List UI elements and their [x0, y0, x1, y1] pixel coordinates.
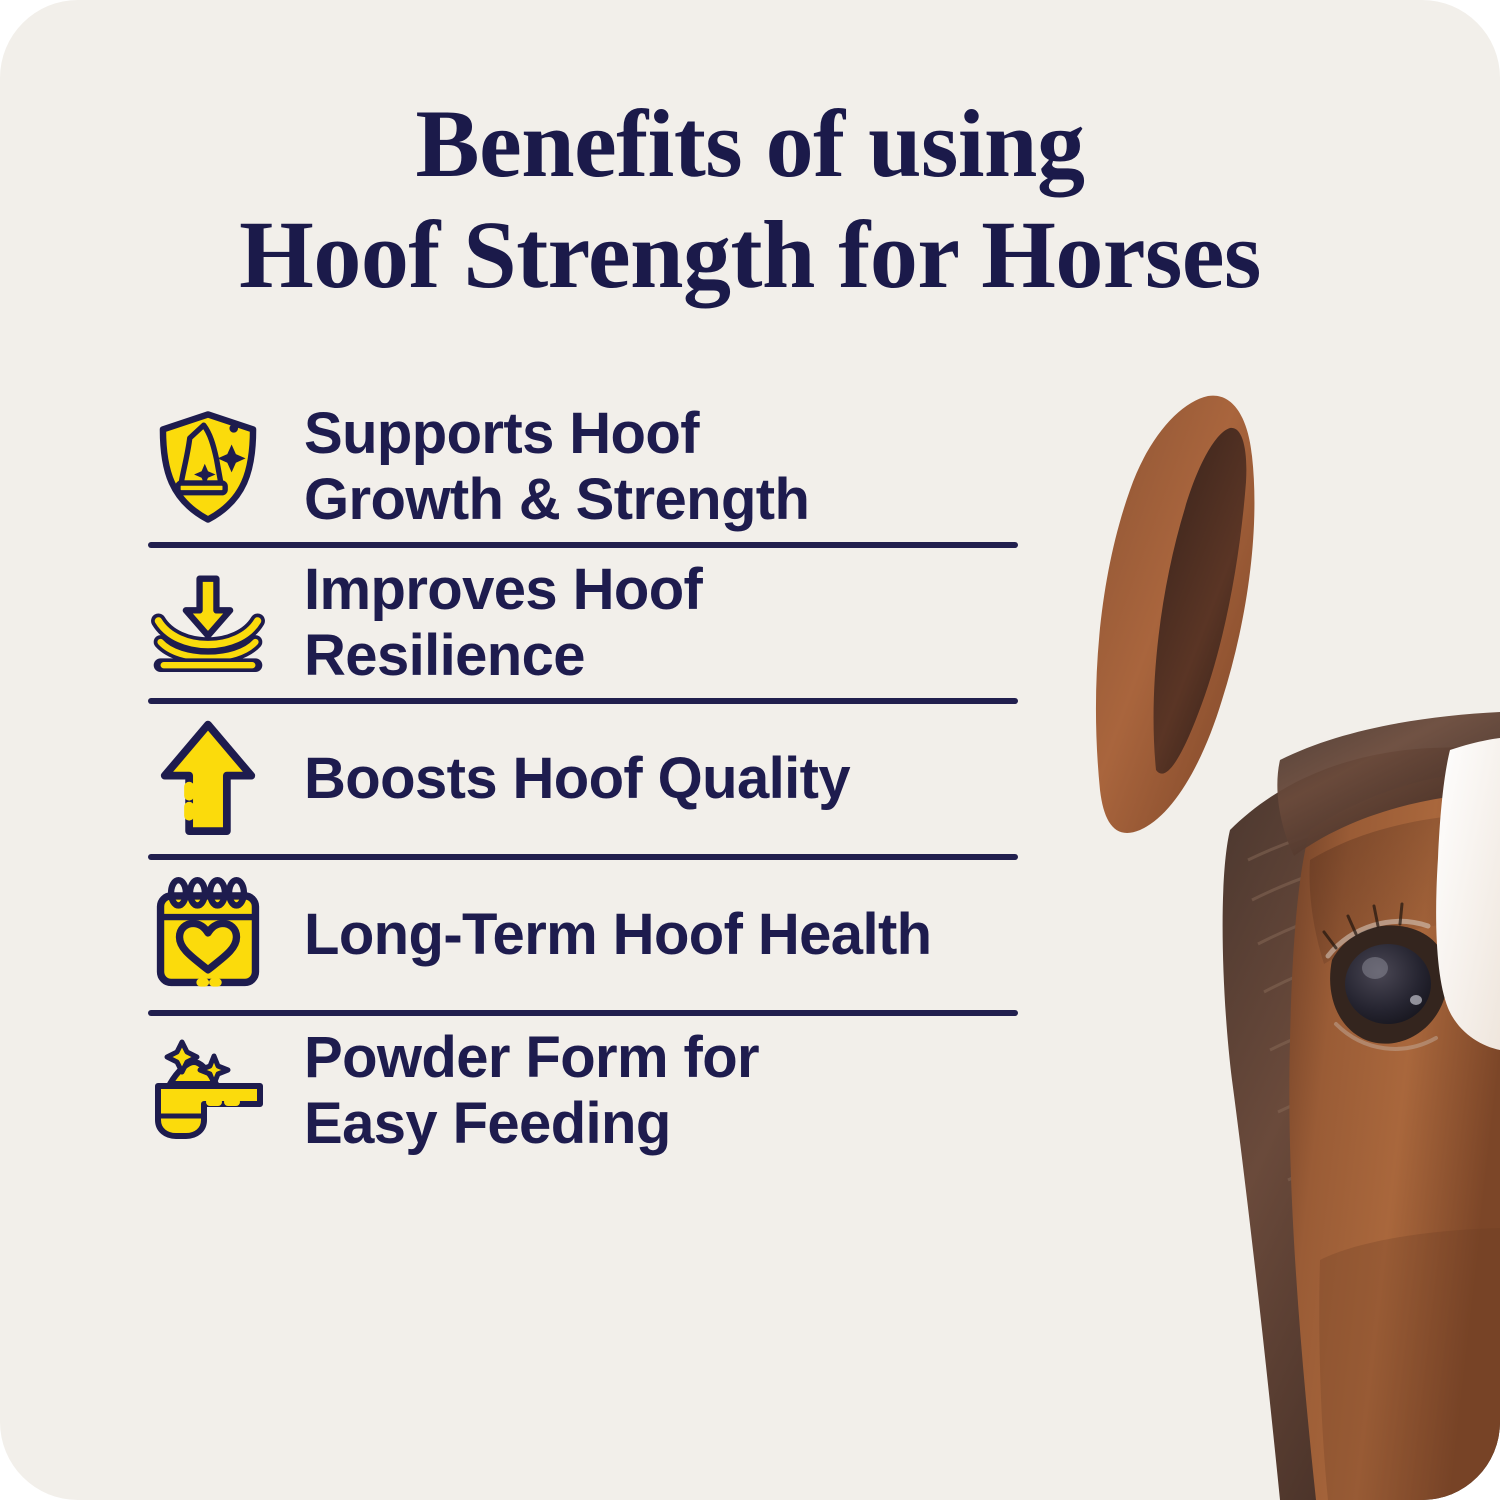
- benefit-label-line1: Supports Hoof: [304, 401, 699, 466]
- benefit-label-line1: Long-Term Hoof Health: [304, 902, 932, 967]
- benefit-label: Improves Hoof Resilience: [304, 557, 702, 688]
- benefit-item: Improves Hoof Resilience: [148, 548, 1048, 698]
- benefit-label: Long-Term Hoof Health: [304, 902, 932, 968]
- benefit-label-line1: Boosts Hoof Quality: [304, 746, 850, 811]
- horse-photo: [980, 360, 1500, 1500]
- arrow-up-icon: [148, 719, 268, 839]
- benefit-label-line1: Improves Hoof: [304, 557, 702, 622]
- title-line-1: Benefits of using: [0, 88, 1500, 199]
- infographic-card: Benefits of using Hoof Strength for Hors…: [0, 0, 1500, 1500]
- powder-scoop-sparkle-icon: [148, 1031, 268, 1151]
- benefit-label-line2: Easy Feeding: [304, 1091, 759, 1157]
- calendar-heart-icon: [148, 875, 268, 995]
- shield-hoof-sparkle-icon: [148, 407, 268, 527]
- page-title: Benefits of using Hoof Strength for Hors…: [0, 88, 1500, 311]
- arrow-down-cushion-layers-icon: [148, 563, 268, 683]
- benefit-item: Powder Form for Easy Feeding: [148, 1016, 1048, 1166]
- benefit-item: Long-Term Hoof Health: [148, 860, 1048, 1010]
- benefit-label: Boosts Hoof Quality: [304, 746, 850, 812]
- benefit-label: Supports Hoof Growth & Strength: [304, 401, 809, 532]
- benefit-label: Powder Form for Easy Feeding: [304, 1025, 759, 1156]
- benefit-item: Boosts Hoof Quality: [148, 704, 1048, 854]
- benefit-label-line1: Powder Form for: [304, 1025, 759, 1090]
- benefits-list: Supports Hoof Growth & Strength Improve: [148, 392, 1048, 1166]
- benefit-label-line2: Growth & Strength: [304, 467, 809, 533]
- benefit-label-line2: Resilience: [304, 623, 702, 689]
- benefit-item: Supports Hoof Growth & Strength: [148, 392, 1048, 542]
- title-line-2: Hoof Strength for Horses: [0, 199, 1500, 310]
